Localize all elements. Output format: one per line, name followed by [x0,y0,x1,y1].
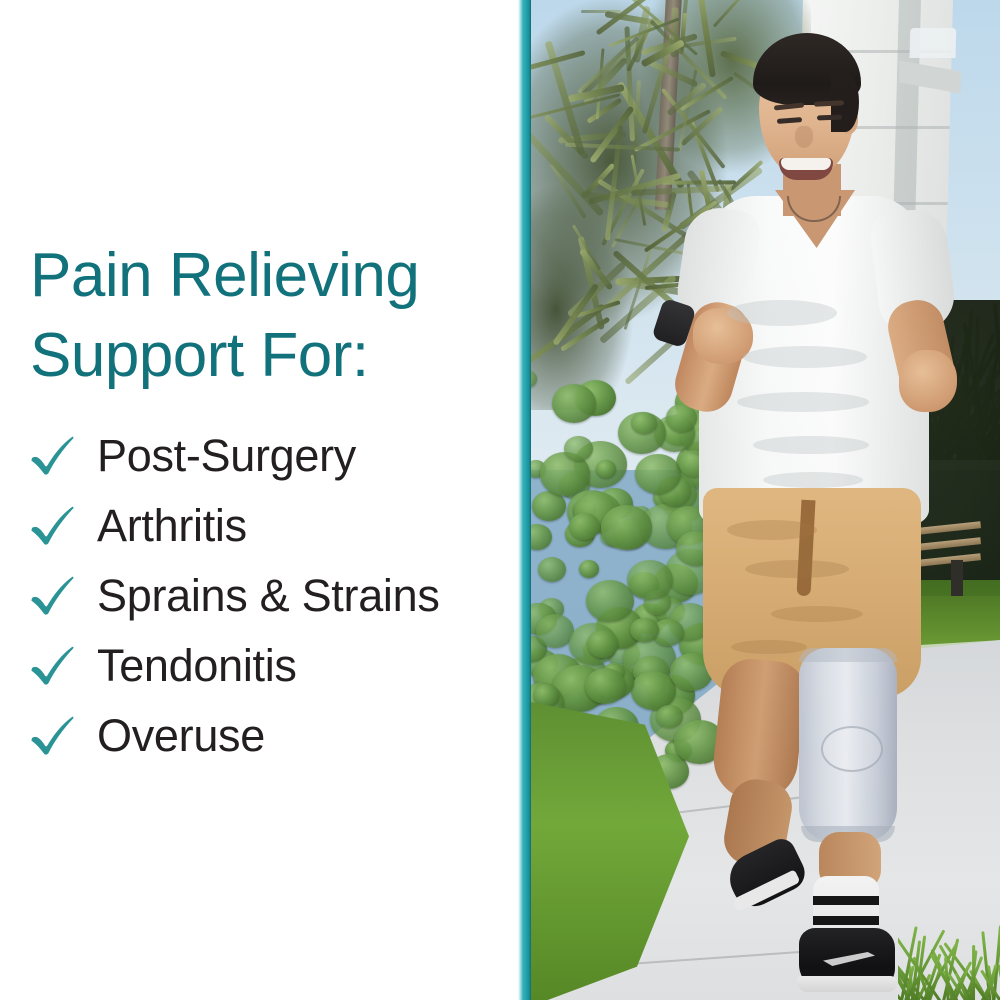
fabric-fold [763,472,863,488]
teeth [781,158,831,170]
left-text-panel: Pain Relieving Support For: Post-Surgery… [0,0,518,1000]
runner-figure [531,0,1000,1000]
fabric-fold [753,436,869,454]
shorts-fold [745,560,849,578]
list-item-label: Overuse [97,711,265,761]
shorts-fold [731,640,807,654]
sleeve-top-band [799,648,897,662]
check-icon [28,644,76,688]
check-icon [28,434,76,478]
fabric-fold [743,346,867,368]
list-item: Post-Surgery [22,421,522,491]
list-item-label: Post-Surgery [97,431,356,481]
page-title: Pain Relieving Support For: [30,236,520,396]
fabric-fold [727,300,837,326]
list-item-label: Arthritis [97,501,247,551]
list-item-label: Tendonitis [97,641,297,691]
check-icon [28,574,76,618]
nose [795,126,813,148]
shorts-fold [771,606,863,622]
check-icon [28,504,76,548]
fabric-fold [737,392,869,412]
check-icon [28,714,76,758]
shorts-fold [727,520,817,540]
mouth [779,158,833,180]
shoe-right-sole [797,976,897,992]
fist-right [899,350,957,412]
list-item: Sprains & Strains [22,561,522,631]
sleeve-knee-seam [821,726,883,772]
lifestyle-photo [531,0,1000,1000]
list-item-label: Sprains & Strains [97,571,440,621]
list-item: Tendonitis [22,631,522,701]
eye [817,115,842,121]
vertical-teal-divider [518,0,531,1000]
sock-stripe [813,916,879,925]
sock-stripe [813,896,879,905]
product-benefit-poster: Pain Relieving Support For: Post-Surgery… [0,0,1000,1000]
list-item: Overuse [22,701,522,771]
benefit-list: Post-Surgery Arthritis Sprains & Strains [22,421,522,771]
list-item: Arthritis [22,491,522,561]
